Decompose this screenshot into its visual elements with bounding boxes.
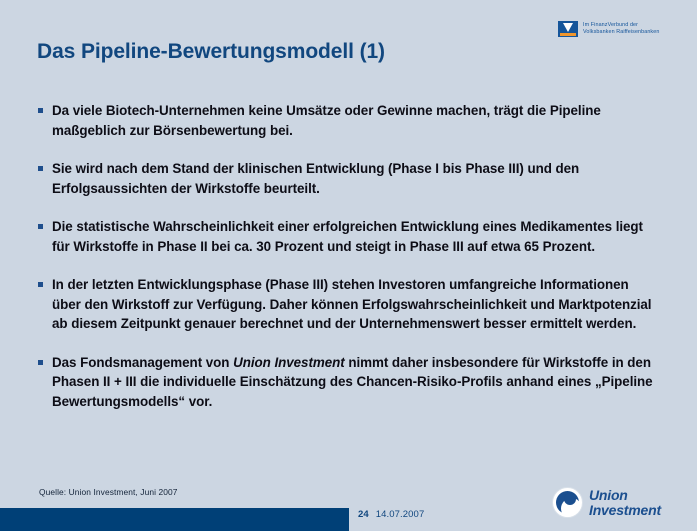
square-bullet-icon (38, 166, 43, 171)
partner-logo-text: Im FinanzVerbund der Volksbanken Raiffei… (583, 22, 659, 36)
presentation-slide: Im FinanzVerbund der Volksbanken Raiffei… (0, 0, 697, 531)
slide-date: 14.07.2007 (376, 509, 425, 520)
source-note: Quelle: Union Investment, Juni 2007 (39, 487, 178, 497)
square-bullet-icon (38, 360, 43, 365)
square-bullet-icon (38, 108, 43, 113)
bullet-text-lead: Das Fondsmanagement von (52, 355, 233, 370)
bullet-text: Die statistische Wahrscheinlichkeit eine… (52, 219, 643, 254)
bullet-text: In der letzten Entwicklungsphase (Phase … (52, 277, 651, 331)
partner-logo: Im FinanzVerbund der Volksbanken Raiffei… (558, 18, 682, 40)
slide-title: Das Pipeline-Bewertungsmodell (1) (37, 40, 385, 64)
brand-logo: Union Investment (552, 487, 661, 518)
bullet-text: Sie wird nach dem Stand der klinischen E… (52, 161, 579, 196)
footer-band (0, 508, 349, 531)
bullet-text-emphasis: Union Investment (233, 355, 345, 370)
bullet-text: Da viele Biotech-Unternehmen keine Umsät… (52, 103, 601, 138)
vr-bank-square-icon (558, 21, 578, 37)
bullet-item: In der letzten Entwicklungsphase (Phase … (38, 275, 653, 334)
page-number: 24 (358, 509, 369, 520)
square-bullet-icon (38, 282, 43, 287)
bullet-item: Das Fondsmanagement von Union Investment… (38, 353, 653, 412)
brand-logo-line2: Investment (589, 502, 661, 518)
union-investment-circle-icon (552, 487, 583, 518)
square-bullet-icon (38, 224, 43, 229)
bullet-item: Sie wird nach dem Stand der klinischen E… (38, 159, 653, 198)
partner-logo-line1: Im FinanzVerbund der (583, 22, 638, 28)
brand-logo-text: Union Investment (589, 488, 661, 518)
brand-logo-line1: Union (589, 487, 628, 503)
bullet-item: Da viele Biotech-Unternehmen keine Umsät… (38, 101, 653, 140)
bullet-item: Die statistische Wahrscheinlichkeit eine… (38, 217, 653, 256)
partner-logo-line2: Volksbanken Raiffeisenbanken (583, 29, 659, 35)
bullet-list: Da viele Biotech-Unternehmen keine Umsät… (38, 101, 653, 411)
footer-meta: 24 14.07.2007 (358, 509, 424, 520)
